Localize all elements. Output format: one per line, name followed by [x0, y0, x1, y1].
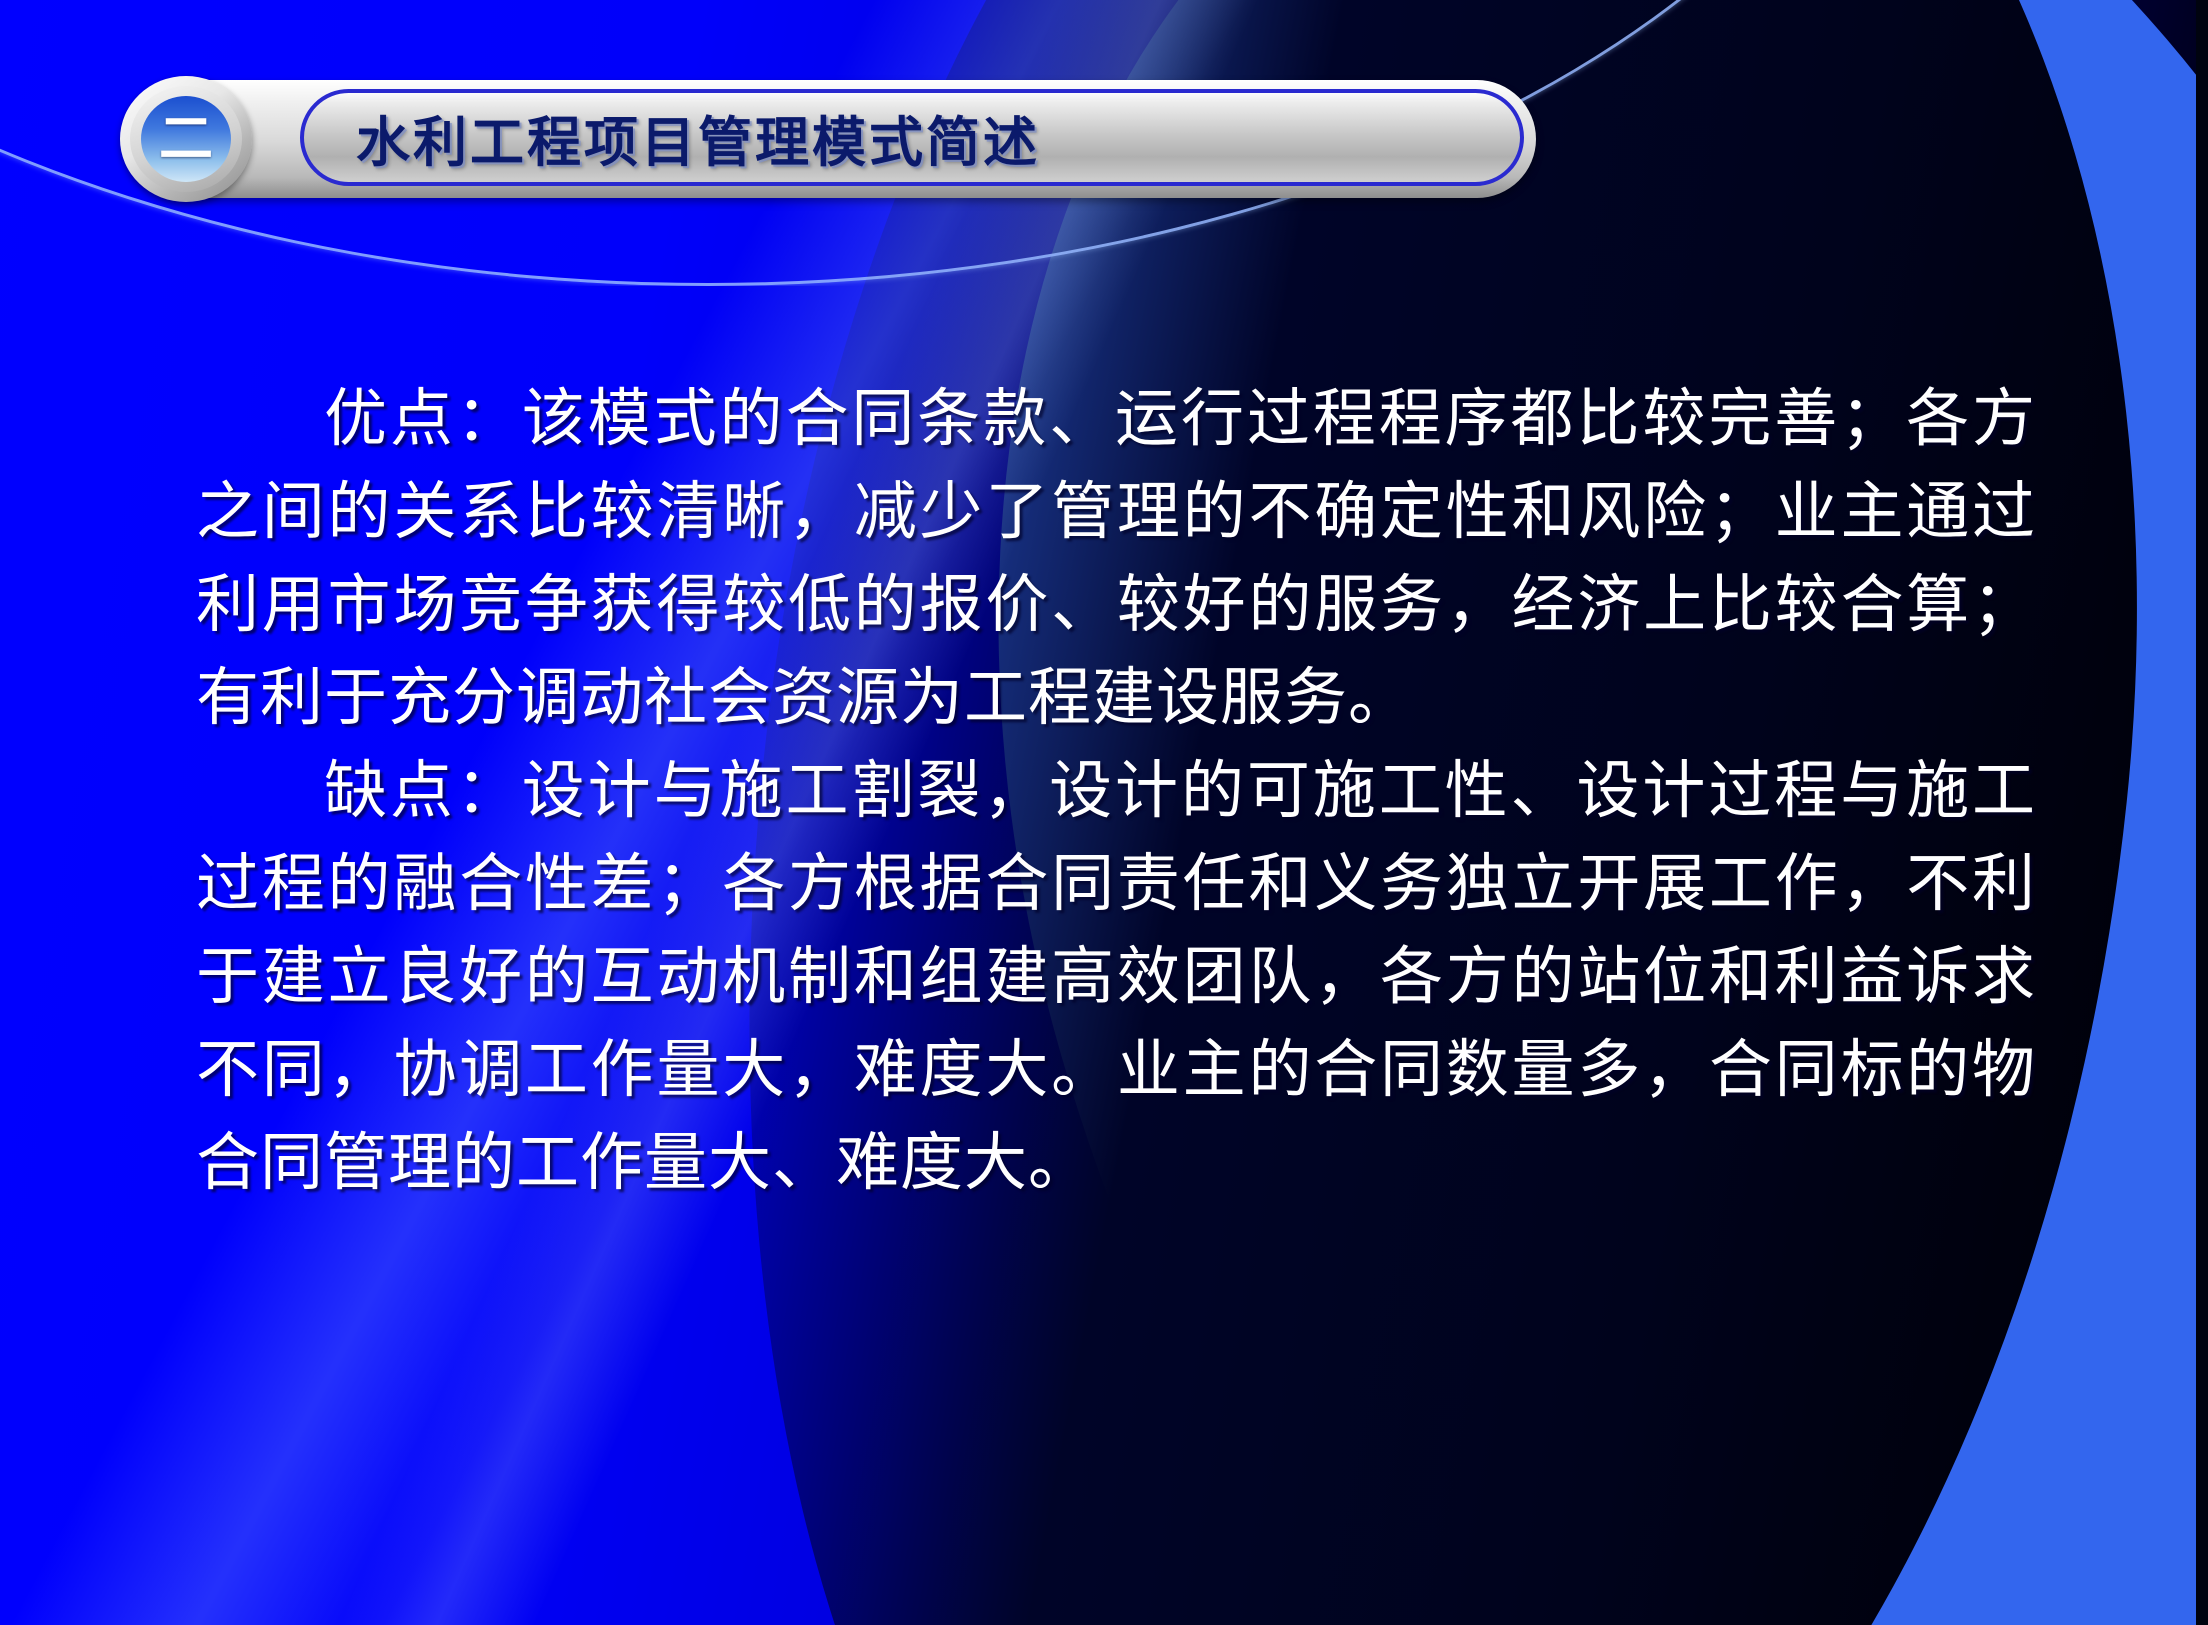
slide-body: 优点：该模式的合同条款、运行过程程序都比较完善；各方之间的关系比较清晰，减少了管…: [196, 372, 2036, 1209]
banner-inner-plate: 水利工程项目管理模式简述: [300, 89, 1524, 186]
paragraph-disadvantages: 缺点：设计与施工割裂，设计的可施工性、设计过程与施工过程的融合性差；各方根据合同…: [196, 744, 2036, 1209]
slide-header-banner: 水利工程项目管理模式简述 二: [128, 80, 1536, 198]
right-edge-strip: [2196, 0, 2208, 1625]
section-number-badge: 二: [120, 76, 252, 202]
presentation-slide: 水利工程项目管理模式简述 二 优点：该模式的合同条款、运行过程程序都比较完善；各…: [0, 0, 2208, 1625]
badge-ring: 二: [130, 86, 242, 192]
badge-numeral: 二: [141, 96, 231, 182]
page-title: 水利工程项目管理模式简述: [356, 98, 1040, 177]
paragraph-advantages: 优点：该模式的合同条款、运行过程程序都比较完善；各方之间的关系比较清晰，减少了管…: [196, 372, 2036, 744]
